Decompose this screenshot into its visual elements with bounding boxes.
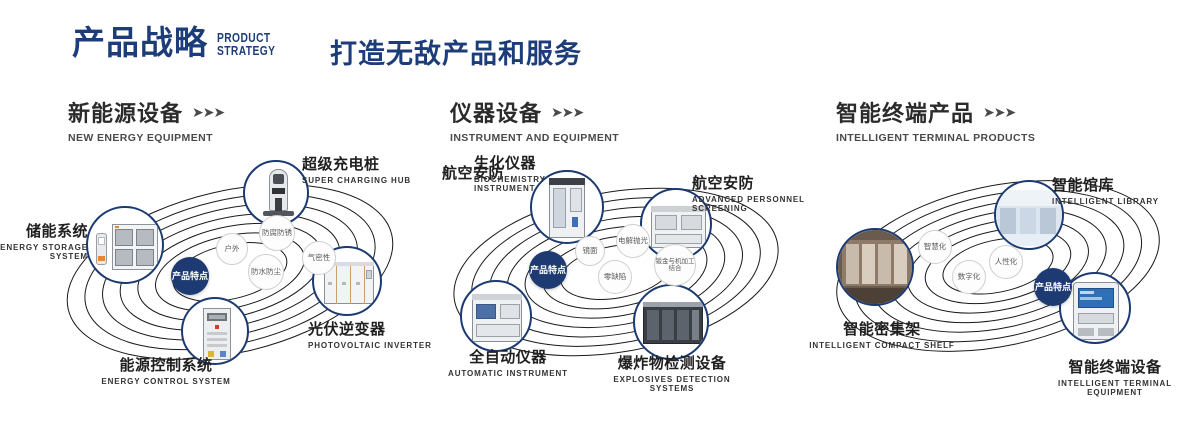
label-intelligent-compact-shelf: 智能密集架 INTELLIGENT COMPACT SHELF [806, 318, 958, 350]
bubble-feature-waterproof-dustproof[interactable]: 防水防尘 [248, 254, 284, 290]
compact-shelf-icon [838, 230, 912, 304]
label-automatic-instrument: 全自动仪器 AUTOMATIC INSTRUMENT [422, 346, 594, 378]
label-cn: 能源控制系统 [82, 354, 250, 375]
section-title-en: NEW ENERGY EQUIPMENT [68, 132, 224, 144]
bubble-text: 钣金与机加工结合 [655, 258, 695, 273]
bubble-feature-electropolishing[interactable]: 电解抛光 [616, 224, 650, 258]
bubble-text: 电解抛光 [618, 237, 648, 245]
section-heading-instrument: 仪器设备➤➤➤ INSTRUMENT AND EQUIPMENT [450, 96, 619, 144]
bubble-text: 智慧化 [924, 243, 947, 251]
section-title-en: INSTRUMENT AND EQUIPMENT [450, 132, 619, 144]
bubble-text: 镜面 [583, 247, 598, 255]
label-cn: 爆炸物检测设备 [596, 352, 748, 373]
diagram-intelligent-terminal: 智能馆库 INTELLIGENT LIBRARY 智能密集架 INTELLIGE… [812, 150, 1200, 410]
product-strategy-infographic: 产品战略 PRODUCT STRATEGY 打造无敌产品和服务 新能源设备➤➤➤… [0, 0, 1200, 422]
label-energy-storage-system: 储能系统 ENERGY STORAGE SYSTEM [0, 220, 88, 261]
label-en: BIOCHEMISTRY INSTRUMENT [474, 175, 584, 193]
bubble-text: 防腐防锈 [262, 229, 292, 237]
bubble-feature-airtightness[interactable]: 气密性 [302, 241, 336, 275]
label-en: ENERGY CONTROL SYSTEM [82, 377, 250, 386]
node-intelligent-compact-shelf[interactable] [836, 228, 914, 306]
bubble-feature-mirror-finish[interactable]: 镜面 [575, 236, 605, 266]
page-title-en: PRODUCT STRATEGY [217, 32, 275, 58]
label-cn: 航空安防 [692, 172, 822, 193]
bubble-feature-anticorrosion[interactable]: 防腐防锈 [259, 215, 295, 251]
node-explosives-detection-systems[interactable] [633, 284, 709, 360]
page-subtitle: 打造无敌产品和服务 [330, 32, 582, 71]
label-explosives-detection-systems: 爆炸物检测设备 EXPLOSIVES DETECTION SYSTEMS [596, 352, 748, 393]
bubble-feature-humanized[interactable]: 人性化 [989, 245, 1023, 279]
label-cn: 全自动仪器 [422, 346, 594, 367]
label-en: ENERGY STORAGE SYSTEM [0, 243, 88, 261]
chevron-right-icon: ➤➤➤ [983, 104, 1015, 121]
chevron-right-icon: ➤➤➤ [551, 104, 583, 121]
explosives-detector-icon [635, 286, 707, 358]
label-cn: 智能密集架 [806, 318, 958, 339]
label-cn: 智能终端设备 [1030, 356, 1200, 377]
label-advanced-personnel-screening: 航空安防 ADVANCED PERSONNEL SCREENING [692, 172, 822, 213]
page-title: 产品战略 PRODUCT STRATEGY [72, 26, 288, 59]
section-title-en: INTELLIGENT TERMINAL PRODUCTS [836, 132, 1035, 144]
bubble-text: 产品特点 [172, 271, 208, 281]
label-cn: 光伏逆变器 [308, 318, 438, 339]
section-heading-new-energy: 新能源设备➤➤➤ NEW ENERGY EQUIPMENT [68, 96, 224, 144]
node-automatic-instrument[interactable] [460, 280, 532, 352]
section-title-cn: 仪器设备 [450, 96, 542, 128]
bubble-text: 户外 [225, 245, 240, 253]
bubble-feature-intelligent[interactable]: 智慧化 [918, 230, 952, 264]
label-en: PHOTOVOLTAIC INVERTER [308, 341, 438, 350]
label-energy-control-system: 能源控制系统 ENERGY CONTROL SYSTEM [82, 354, 250, 386]
section-title-cn: 新能源设备 [68, 96, 183, 128]
bubble-text: 零缺陷 [604, 273, 627, 281]
page-title-en-line2: STRATEGY [217, 45, 275, 58]
section-title-cn: 智能终端产品 [836, 96, 974, 128]
bubble-feature-sheetmetal-machining[interactable]: 钣金与机加工结合 [654, 244, 696, 286]
label-cn: 生化仪器 [474, 152, 584, 173]
energy-storage-cabinet-icon [88, 208, 162, 282]
bubble-center-product-features[interactable]: 产品特点 [171, 257, 209, 295]
bubble-text: 防水防尘 [251, 268, 281, 276]
diagram-instrument: 航空安防 生化仪器 BIOCHEMISTRY INSTRUMENT 航空安防 A… [430, 150, 820, 410]
bubble-feature-outdoor[interactable]: 户外 [216, 233, 248, 265]
label-cn: 储能系统 [0, 220, 88, 241]
chevron-right-icon: ➤➤➤ [192, 104, 224, 121]
bubble-feature-digitalization[interactable]: 数字化 [952, 260, 986, 294]
bubble-text: 人性化 [995, 258, 1018, 266]
diagram-new-energy: 储能系统 ENERGY STORAGE SYSTEM 超级充电桩 SUPER C… [40, 150, 420, 410]
label-biochemistry-instrument: 生化仪器 BIOCHEMISTRY INSTRUMENT [474, 152, 584, 193]
automatic-analyzer-icon [462, 282, 530, 350]
label-en: AUTOMATIC INSTRUMENT [422, 369, 594, 378]
label-en: ADVANCED PERSONNEL SCREENING [692, 195, 822, 213]
bubble-center-product-features[interactable]: 产品特点 [529, 251, 567, 289]
section-heading-intelligent-terminal: 智能终端产品➤➤➤ INTELLIGENT TERMINAL PRODUCTS [836, 96, 1035, 144]
label-intelligent-library: 智能馆库 INTELLIGENT LIBRARY [1052, 174, 1182, 206]
node-energy-storage-system[interactable] [86, 206, 164, 284]
label-intelligent-terminal-equipment: 智能终端设备 INTELLIGENT TERMINAL EQUIPMENT [1030, 356, 1200, 397]
bubble-feature-zero-defect[interactable]: 零缺陷 [598, 260, 632, 294]
bubble-text: 产品特点 [1035, 282, 1071, 292]
bubble-center-product-features[interactable]: 产品特点 [1034, 268, 1072, 306]
page-title-cn: 产品战略 [72, 26, 208, 59]
label-en: INTELLIGENT TERMINAL EQUIPMENT [1030, 379, 1200, 397]
label-en: EXPLOSIVES DETECTION SYSTEMS [596, 375, 748, 393]
bubble-text: 产品特点 [530, 265, 566, 275]
bubble-text: 气密性 [308, 254, 331, 262]
label-en: INTELLIGENT COMPACT SHELF [806, 341, 958, 350]
label-cn: 智能馆库 [1052, 174, 1182, 195]
bubble-text: 数字化 [958, 273, 981, 281]
label-photovoltaic-inverter: 光伏逆变器 PHOTOVOLTAIC INVERTER [308, 318, 438, 350]
label-en: INTELLIGENT LIBRARY [1052, 197, 1182, 206]
